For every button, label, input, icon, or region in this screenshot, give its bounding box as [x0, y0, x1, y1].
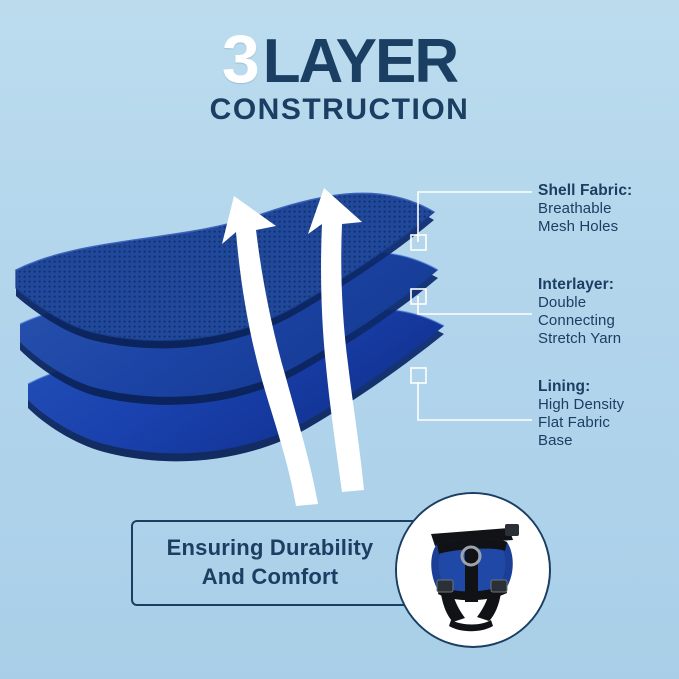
- callout-group: Shell Fabric: Breathable Mesh Holes Inte…: [400, 176, 675, 476]
- infographic-canvas: 3 LAYER CONSTRUCTION: [0, 0, 679, 679]
- title-subtitle: CONSTRUCTION: [0, 93, 679, 127]
- callout-line: High Density: [538, 396, 624, 414]
- tagline-line-2: And Comfort: [167, 563, 374, 592]
- callout-line: Flat Fabric: [538, 414, 624, 432]
- tagline-banner: Ensuring Durability And Comfort: [131, 520, 435, 606]
- title-number: 3: [222, 28, 259, 91]
- callout-line: Base: [538, 432, 624, 450]
- callout-line: Connecting: [538, 312, 621, 330]
- tagline-text: Ensuring Durability And Comfort: [167, 534, 400, 591]
- page-title: 3 LAYER CONSTRUCTION: [0, 28, 679, 127]
- callout-square-marker-3: [411, 368, 426, 383]
- title-main-row: 3 LAYER: [0, 28, 679, 91]
- title-word: LAYER: [263, 33, 457, 90]
- callout-title: Shell Fabric:: [538, 182, 632, 200]
- product-photo: [395, 492, 551, 648]
- callout-lining: Lining: High Density Flat Fabric Base: [538, 378, 624, 449]
- callout-title: Interlayer:: [538, 276, 621, 294]
- callout-line: Double: [538, 294, 621, 312]
- callout-shell-fabric: Shell Fabric: Breathable Mesh Holes: [538, 182, 632, 236]
- tagline-line-1: Ensuring Durability: [167, 534, 374, 563]
- callout-line: Stretch Yarn: [538, 330, 621, 348]
- callout-interlayer: Interlayer: Double Connecting Stretch Ya…: [538, 276, 621, 347]
- callout-line: Breathable: [538, 200, 632, 218]
- callout-title: Lining:: [538, 378, 624, 396]
- callout-line: Mesh Holes: [538, 218, 632, 236]
